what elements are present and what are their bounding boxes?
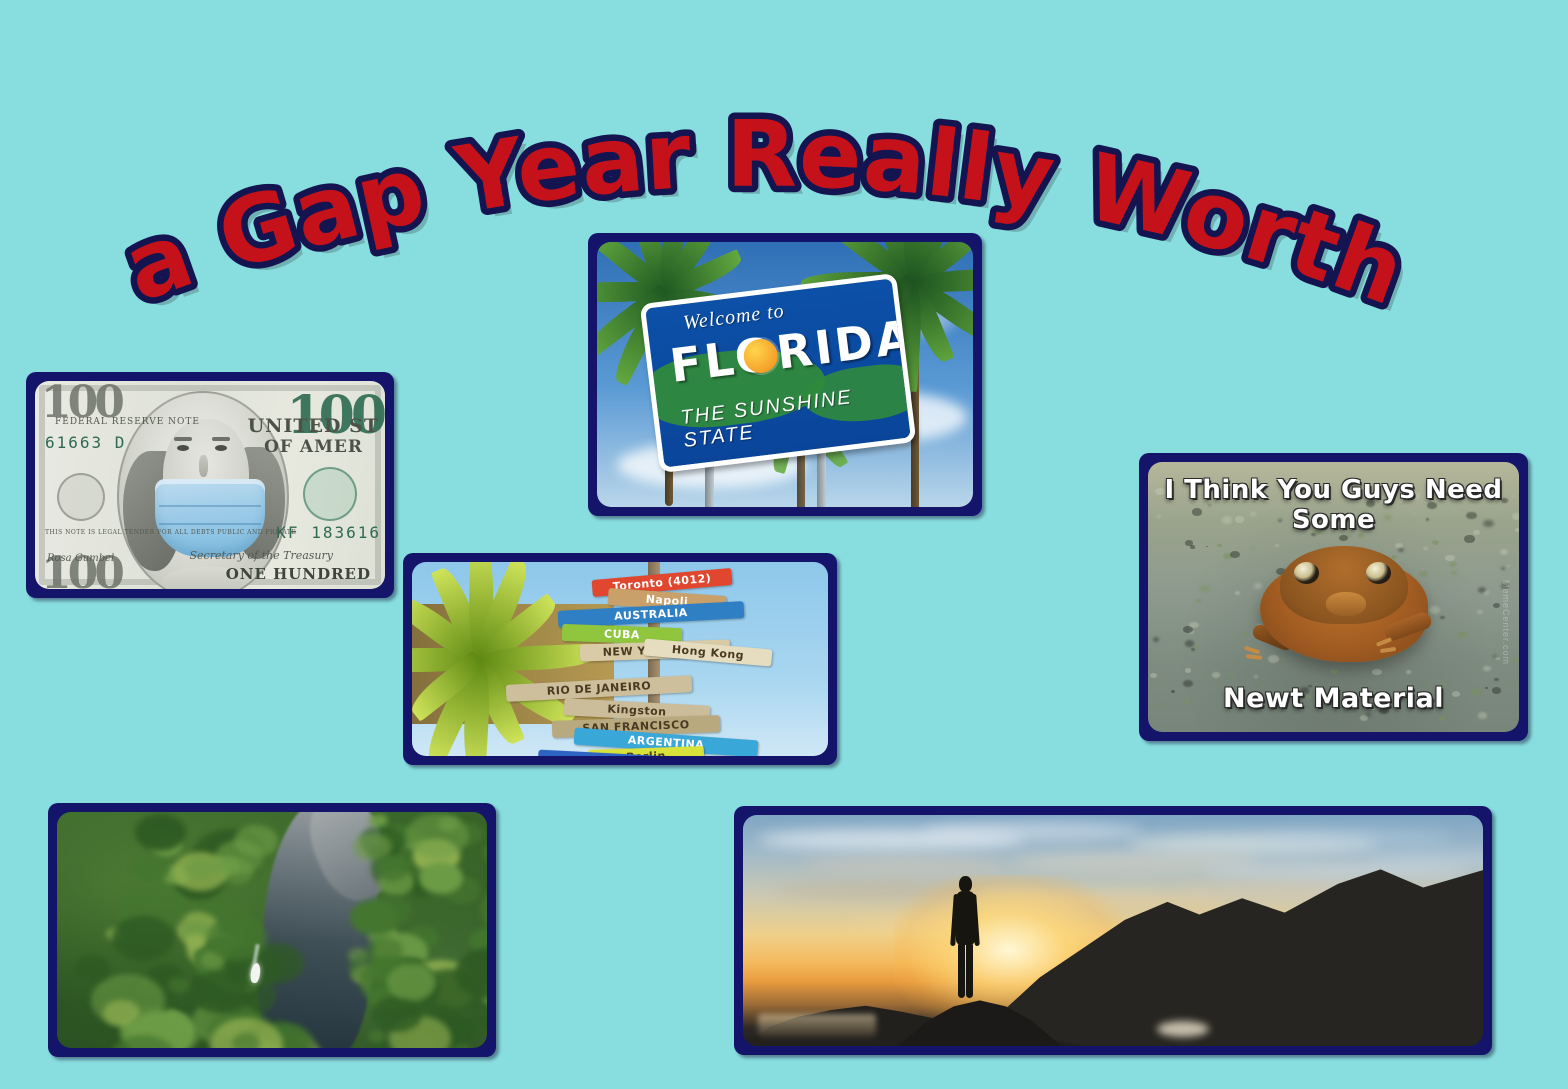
newt-eye-right: [1366, 562, 1391, 584]
tree-canopy: [185, 934, 205, 948]
ground-speck: [1206, 546, 1208, 548]
tree-canopy: [406, 813, 469, 858]
bill-federal-seal: [57, 473, 105, 521]
person-leg-left: [958, 942, 965, 998]
ground-speck: [1217, 544, 1222, 548]
ground-speck: [1330, 669, 1338, 674]
franklin-nose: [199, 455, 208, 477]
franklin-brow-left: [174, 437, 192, 441]
bill-text-united-states: UNITED ST: [248, 415, 379, 437]
ground-speck: [1190, 545, 1195, 548]
image-inner: 100 100 100 FEDERAL RESERVE NO: [35, 381, 385, 589]
ground-speck: [1429, 606, 1440, 614]
tree-canopy: [387, 964, 436, 1000]
tree-canopy: [366, 937, 403, 964]
image-inner: [743, 815, 1483, 1046]
newt-snout: [1326, 592, 1366, 616]
bill-text-legal-tender: THIS NOTE IS LEGAL TENDER FOR ALL DEBTS …: [45, 529, 296, 537]
newt-toes-left: [1244, 646, 1260, 655]
person-torso: [956, 891, 975, 945]
ground-speck: [1254, 675, 1258, 678]
ground-speck: [1189, 622, 1198, 629]
ground-speck: [1281, 658, 1285, 661]
newt-scene: I Think You Guys Need Some Newt Material…: [1148, 462, 1519, 732]
bill-text-one-hundred: ONE HUNDRED: [226, 565, 371, 583]
ground-speck: [1185, 640, 1195, 647]
sunset-scene: [743, 815, 1483, 1046]
person-silhouette: [952, 876, 978, 998]
image-amazon-rainforest-river-aerial[interactable]: [48, 803, 496, 1057]
bill-signature-left: Rosa Gumbel: [47, 553, 114, 564]
tree-canopy: [232, 1033, 261, 1048]
bill-text-of-america: OF AMER: [264, 437, 363, 457]
ground-speck: [1432, 540, 1439, 545]
ground-speck: [1196, 599, 1201, 603]
person-head: [959, 876, 972, 892]
surgical-mask: [155, 479, 265, 557]
ground-speck: [1200, 586, 1209, 593]
person-leg-right: [966, 942, 973, 998]
tree-canopy: [213, 856, 240, 875]
ground-speck: [1185, 668, 1192, 673]
image-newt-material-meme[interactable]: I Think You Guys Need Some Newt Material…: [1139, 453, 1528, 741]
ground-speck: [1419, 571, 1428, 577]
bill-text-federal-reserve: FEDERAL RESERVE NOTE: [55, 417, 200, 427]
ground-speck: [1439, 716, 1446, 721]
tree-canopy: [368, 1030, 386, 1043]
ground-speck: [1423, 547, 1427, 550]
ground-speck: [1243, 632, 1249, 636]
florida-scene: Welcome to FLORIDA THE SUNSHINE STATE: [597, 242, 973, 507]
cloud-band: [1261, 829, 1453, 847]
ground-speck: [1339, 535, 1348, 541]
ground-speck: [1445, 555, 1454, 562]
florida-road-sign: Welcome to FLORIDA THE SUNSHINE STATE: [640, 273, 917, 473]
bill-serial-left: 61663 D: [45, 433, 126, 452]
tree-canopy: [482, 839, 487, 866]
tree-canopy: [168, 977, 190, 993]
ground-speck: [1191, 648, 1195, 651]
ground-speck: [1464, 535, 1474, 542]
ground-speck: [1275, 544, 1279, 547]
ground-speck: [1150, 673, 1157, 678]
ground-speck: [1398, 548, 1404, 552]
franklin-eye-left: [177, 445, 189, 451]
ground-speck: [1268, 655, 1279, 662]
image-welcome-to-florida-sign[interactable]: Welcome to FLORIDA THE SUNSHINE STATE: [588, 233, 982, 516]
ground-speck: [1153, 637, 1159, 641]
cloud-band: [802, 857, 1009, 873]
signpost-scene: Toronto (4012)NapoliAUSTRALIACUBANEW YOR…: [412, 562, 828, 756]
ground-speck: [1483, 666, 1491, 672]
meme-watermark: MemeCenter.com: [1501, 580, 1511, 665]
ground-speck: [1451, 571, 1457, 575]
meme-caption-top: I Think You Guys Need Some: [1148, 475, 1519, 535]
ground-speck: [1395, 543, 1403, 549]
tree-canopy: [132, 856, 169, 883]
franklin-brow-right: [212, 437, 230, 441]
image-travel-destination-signpost[interactable]: Toronto (4012)NapoliAUSTRALIACUBANEW YOR…: [403, 553, 837, 765]
light-flare: [1157, 1021, 1209, 1037]
ground-speck: [1458, 631, 1468, 638]
ground-speck: [1507, 565, 1509, 567]
ground-speck: [1449, 562, 1457, 568]
ground-speck: [1494, 678, 1498, 681]
ground-speck: [1493, 603, 1500, 608]
tree-canopy: [234, 825, 279, 857]
image-inner: Welcome to FLORIDA THE SUNSHINE STATE: [597, 242, 973, 507]
dollar-bill-illustration: 100 100 100 FEDERAL RESERVE NO: [35, 381, 385, 589]
ground-speck: [1406, 670, 1411, 673]
distant-city-lights: [758, 1014, 876, 1037]
ground-speck: [1212, 672, 1219, 677]
ground-speck: [1501, 567, 1506, 570]
ground-speck: [1477, 610, 1483, 614]
ground-speck: [1235, 591, 1240, 595]
ground-speck: [1252, 548, 1254, 550]
ground-speck: [1513, 658, 1519, 663]
tree-canopy: [372, 996, 422, 1032]
image-hundred-dollar-bill-with-face-mask[interactable]: 100 100 100 FEDERAL RESERVE NO: [26, 372, 394, 598]
ground-speck: [1493, 655, 1497, 657]
tree-canopy: [74, 955, 110, 981]
franklin-eye-right: [215, 445, 227, 451]
image-inner: I Think You Guys Need Some Newt Material…: [1148, 462, 1519, 732]
image-person-on-mountain-at-sunset[interactable]: [734, 806, 1492, 1055]
tree-canopy: [112, 916, 175, 962]
tree-canopy: [369, 814, 387, 827]
meme-caption-bottom: Newt Material: [1148, 683, 1519, 714]
bill-treasury-seal: [303, 467, 357, 521]
image-inner: [57, 812, 487, 1048]
bill-signature-right: Secretary of the Treasury: [190, 549, 334, 562]
rainforest-scene: [57, 812, 487, 1048]
ground-speck: [1254, 583, 1262, 589]
newt-eye-left: [1294, 562, 1319, 584]
ground-speck: [1229, 673, 1234, 676]
ground-speck: [1440, 616, 1445, 620]
tree-canopy: [368, 896, 411, 927]
tree-canopy: [184, 857, 216, 880]
ground-speck: [1500, 549, 1508, 555]
image-inner: Toronto (4012)NapoliAUSTRALIACUBANEW YOR…: [412, 562, 828, 756]
ground-speck: [1317, 543, 1319, 545]
newt-toes-left-2: [1246, 654, 1262, 660]
poster-canvas: Is a Gap Year Really Worth It? Is a Gap …: [0, 0, 1568, 1089]
ground-speck: [1372, 669, 1381, 676]
